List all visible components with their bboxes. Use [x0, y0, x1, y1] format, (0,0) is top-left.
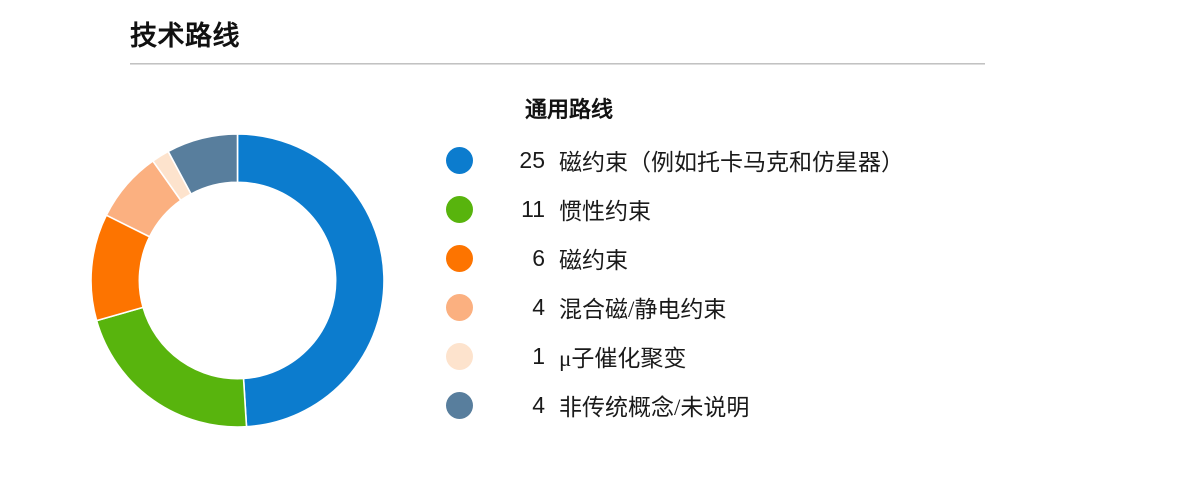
donut-slice[interactable]: [238, 134, 384, 427]
donut-chart: [0, 0, 470, 501]
legend-item-label: 磁约束: [559, 241, 628, 275]
legend-color-swatch: [446, 294, 473, 321]
legend-item[interactable]: 1μ子催化聚变: [440, 332, 1160, 381]
legend-item-label: 非传统概念/未说明: [559, 388, 749, 422]
legend-item[interactable]: 11惯性约束: [440, 185, 1160, 234]
donut-slice[interactable]: [97, 307, 247, 427]
legend-item[interactable]: 4非传统概念/未说明: [440, 381, 1160, 430]
legend-heading: 通用路线: [525, 96, 1160, 124]
legend-item-value: 25: [499, 147, 545, 174]
legend-item-value: 6: [499, 245, 545, 272]
legend-color-swatch: [446, 392, 473, 419]
legend-color-swatch: [446, 147, 473, 174]
legend-color-swatch: [446, 245, 473, 272]
legend-item-value: 4: [499, 392, 545, 419]
legend-items: 25磁约束（例如托卡马克和仿星器）11惯性约束6磁约束4混合磁/静电约束1μ子催…: [440, 136, 1160, 430]
legend-item[interactable]: 4混合磁/静电约束: [440, 283, 1160, 332]
legend-item[interactable]: 25磁约束（例如托卡马克和仿星器）: [440, 136, 1160, 185]
legend-color-swatch: [446, 343, 473, 370]
legend-item-value: 11: [499, 196, 545, 223]
legend-item-label: 惯性约束: [559, 192, 651, 226]
legend-item-label: 磁约束（例如托卡马克和仿星器）: [559, 143, 904, 177]
legend-item-value: 1: [499, 343, 545, 370]
legend-item[interactable]: 6磁约束: [440, 234, 1160, 283]
chart-legend: 通用路线 25磁约束（例如托卡马克和仿星器）11惯性约束6磁约束4混合磁/静电约…: [440, 96, 1160, 430]
legend-color-swatch: [446, 196, 473, 223]
legend-item-value: 4: [499, 294, 545, 321]
legend-item-label: 混合磁/静电约束: [559, 290, 726, 324]
donut-svg: [91, 134, 384, 427]
legend-item-label: μ子催化聚变: [559, 339, 686, 373]
donut-chart-graphic: [91, 134, 384, 427]
